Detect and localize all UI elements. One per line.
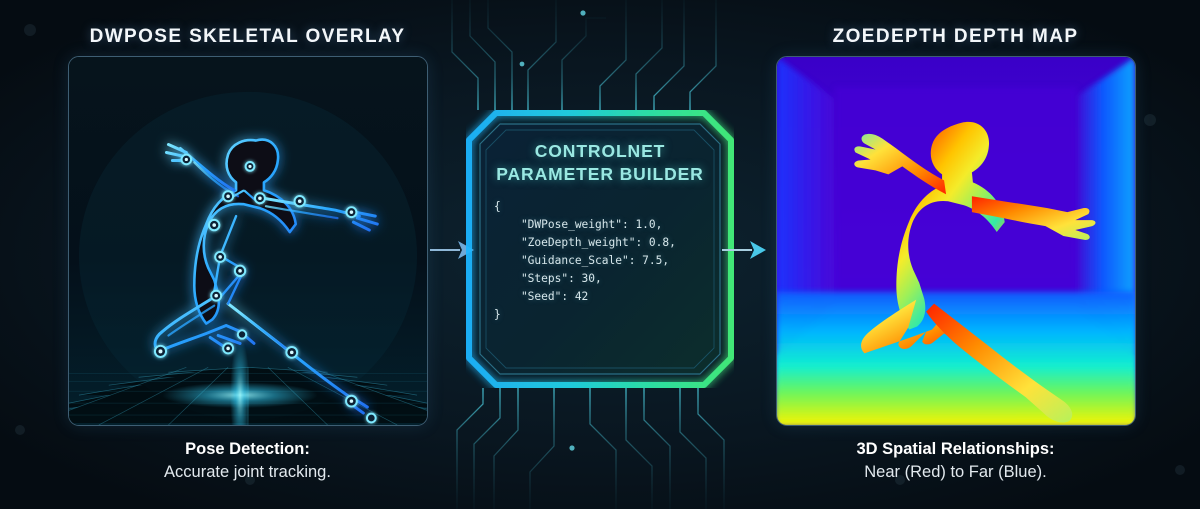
parameter-json-block: { "DWPose_weight": 1.0, "ZoeDepth_weight… <box>492 198 708 325</box>
chip-title-line1: CONTROLNET <box>492 140 708 163</box>
left-panel-title: DWPOSE SKELETAL OVERLAY <box>60 26 435 48</box>
zoedepth-depth-map-image <box>776 56 1136 426</box>
left-panel-caption: Pose Detection: Accurate joint tracking. <box>60 438 435 485</box>
right-panel-caption: 3D Spatial Relationships: Near (Red) to … <box>768 438 1143 485</box>
right-caption-heading: 3D Spatial Relationships: <box>768 438 1143 461</box>
diagram-canvas: DWPOSE SKELETAL OVERLAY <box>0 0 1200 509</box>
skeleton-illustration <box>69 57 427 425</box>
chip-title-line2: PARAMETER BUILDER <box>492 163 708 186</box>
left-caption-text: Accurate joint tracking. <box>60 461 435 484</box>
dwpose-skeletal-overlay-image <box>68 56 428 426</box>
right-panel-title: ZOEDEPTH DEPTH MAP <box>768 26 1143 48</box>
right-caption-text: Near (Red) to Far (Blue). <box>768 461 1143 484</box>
controlnet-parameter-builder-chip: CONTROLNET PARAMETER BUILDER { "DWPose_w… <box>466 110 734 388</box>
chip-title: CONTROLNET PARAMETER BUILDER <box>492 140 708 187</box>
left-caption-heading: Pose Detection: <box>60 438 435 461</box>
output-arrow-icon <box>722 238 766 262</box>
depth-map-illustration <box>777 57 1135 425</box>
